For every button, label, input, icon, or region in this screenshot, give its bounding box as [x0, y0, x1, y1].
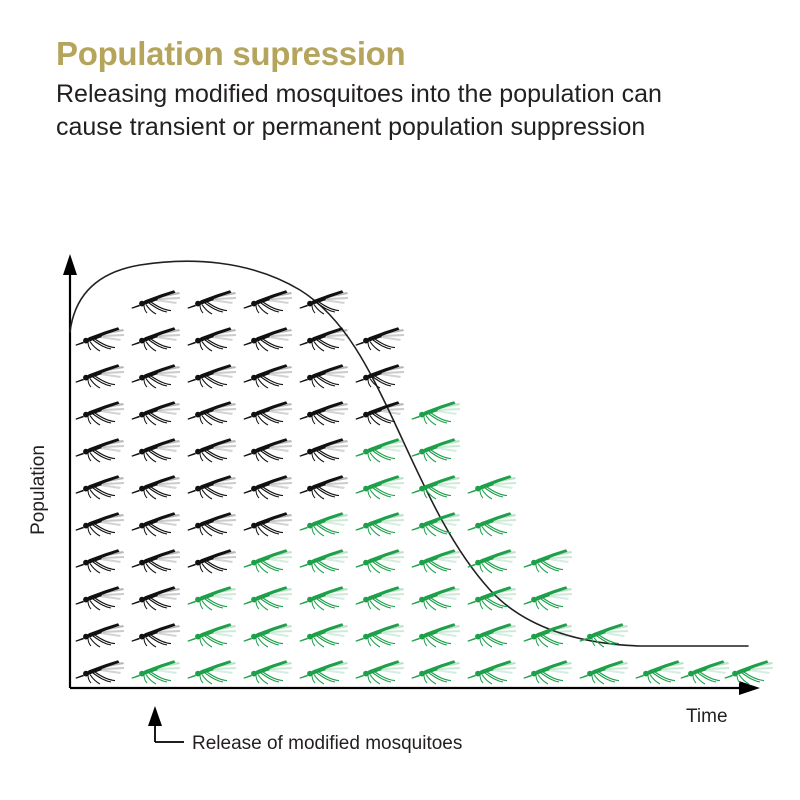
- modified-mosquito-icon: [412, 660, 461, 684]
- release-arrow-up-icon: [148, 706, 162, 726]
- x-axis: Time: [70, 681, 760, 727]
- wild-mosquito-icon: [300, 364, 349, 388]
- pictogram-row: [76, 512, 517, 536]
- wild-mosquito-icon: [132, 586, 181, 610]
- release-annotation-label: Release of modified mosquitoes: [192, 733, 462, 754]
- wild-mosquito-icon: [188, 549, 237, 573]
- wild-mosquito-icon: [244, 364, 293, 388]
- modified-mosquito-icon: [725, 660, 774, 684]
- pictogram-row: [76, 549, 573, 573]
- modified-mosquito-icon: [356, 623, 405, 647]
- pictogram-row: [76, 438, 461, 462]
- wild-mosquito-icon: [132, 290, 181, 314]
- modified-mosquito-icon: [412, 623, 461, 647]
- modified-mosquito-icon: [412, 475, 461, 499]
- wild-mosquito-icon: [244, 438, 293, 462]
- modified-mosquito-icon: [636, 660, 685, 684]
- modified-mosquito-icon: [244, 586, 293, 610]
- wild-mosquito-icon: [300, 327, 349, 351]
- modified-mosquito-icon: [244, 549, 293, 573]
- wild-mosquito-icon: [132, 549, 181, 573]
- wild-mosquito-icon: [300, 475, 349, 499]
- wild-mosquito-icon: [356, 364, 405, 388]
- wild-mosquito-icon: [244, 475, 293, 499]
- pictogram-row: [76, 660, 774, 684]
- wild-mosquito-icon: [76, 438, 125, 462]
- wild-mosquito-icon: [76, 512, 125, 536]
- modified-mosquito-icon: [356, 549, 405, 573]
- pictogram-row: [76, 475, 517, 499]
- modified-mosquito-icon: [412, 401, 461, 425]
- modified-mosquito-icon: [468, 475, 517, 499]
- wild-mosquito-icon: [244, 401, 293, 425]
- modified-mosquito-icon: [188, 623, 237, 647]
- modified-mosquito-icon: [412, 438, 461, 462]
- modified-mosquito-icon: [356, 512, 405, 536]
- wild-mosquito-icon: [76, 586, 125, 610]
- wild-mosquito-icon: [132, 438, 181, 462]
- pictogram-row: [76, 401, 461, 425]
- population-suppression-chart: Population Time: [0, 0, 800, 800]
- wild-mosquito-icon: [356, 401, 405, 425]
- wild-mosquito-icon: [132, 327, 181, 351]
- modified-mosquito-icon: [356, 475, 405, 499]
- wild-mosquito-icon: [76, 327, 125, 351]
- modified-mosquito-icon: [524, 660, 573, 684]
- modified-mosquito-icon: [524, 586, 573, 610]
- wild-mosquito-icon: [188, 401, 237, 425]
- modified-mosquito-icon: [524, 623, 573, 647]
- modified-mosquito-icon: [356, 660, 405, 684]
- modified-mosquito-icon: [468, 623, 517, 647]
- wild-mosquito-icon: [188, 475, 237, 499]
- modified-mosquito-icon: [356, 438, 405, 462]
- modified-mosquito-icon: [468, 512, 517, 536]
- wild-mosquito-icon: [188, 438, 237, 462]
- wild-mosquito-icon: [356, 327, 405, 351]
- modified-mosquito-icon: [412, 512, 461, 536]
- infographic-page: Population supression Releasing modified…: [0, 0, 800, 800]
- wild-mosquito-icon: [76, 475, 125, 499]
- wild-mosquito-icon: [76, 364, 125, 388]
- modified-mosquito-icon: [681, 660, 730, 684]
- modified-mosquito-icon: [188, 660, 237, 684]
- modified-mosquito-icon: [412, 549, 461, 573]
- pictogram-row: [76, 364, 405, 388]
- wild-mosquito-icon: [244, 327, 293, 351]
- modified-mosquito-icon: [468, 549, 517, 573]
- arrow-right-icon: [739, 681, 760, 695]
- modified-mosquito-icon: [468, 660, 517, 684]
- wild-mosquito-icon: [76, 660, 125, 684]
- modified-mosquito-icon: [188, 586, 237, 610]
- wild-mosquito-icon: [132, 364, 181, 388]
- chart-svg: Population Time: [0, 0, 800, 800]
- wild-mosquito-icon: [132, 623, 181, 647]
- modified-mosquito-icon: [300, 623, 349, 647]
- arrow-up-icon: [63, 254, 77, 275]
- modified-mosquito-icon: [300, 512, 349, 536]
- modified-mosquito-icon: [524, 549, 573, 573]
- pictogram-row: [76, 623, 629, 647]
- modified-mosquito-icon: [356, 586, 405, 610]
- wild-mosquito-icon: [132, 475, 181, 499]
- y-axis-label: Population: [28, 445, 49, 535]
- wild-mosquito-icon: [76, 623, 125, 647]
- pictogram-row: [132, 290, 349, 314]
- y-axis: Population: [28, 254, 77, 688]
- wild-mosquito-icon: [132, 401, 181, 425]
- release-annotation: Release of modified mosquitoes: [148, 706, 462, 754]
- x-axis-label: Time: [686, 706, 728, 727]
- modified-mosquito-icon: [132, 660, 181, 684]
- wild-mosquito-icon: [188, 327, 237, 351]
- modified-mosquito-icon: [244, 660, 293, 684]
- modified-mosquito-icon: [580, 660, 629, 684]
- wild-mosquito-icon: [76, 401, 125, 425]
- modified-mosquito-icon: [244, 623, 293, 647]
- wild-mosquito-icon: [188, 290, 237, 314]
- wild-mosquito-icon: [76, 549, 125, 573]
- modified-mosquito-icon: [300, 586, 349, 610]
- wild-mosquito-icon: [244, 290, 293, 314]
- wild-mosquito-icon: [244, 512, 293, 536]
- wild-mosquito-icon: [300, 438, 349, 462]
- modified-mosquito-icon: [300, 660, 349, 684]
- modified-mosquito-icon: [300, 549, 349, 573]
- wild-mosquito-icon: [188, 512, 237, 536]
- modified-mosquito-icon: [412, 586, 461, 610]
- wild-mosquito-icon: [300, 401, 349, 425]
- wild-mosquito-icon: [188, 364, 237, 388]
- mosquito-pictogram: [76, 290, 774, 684]
- wild-mosquito-icon: [132, 512, 181, 536]
